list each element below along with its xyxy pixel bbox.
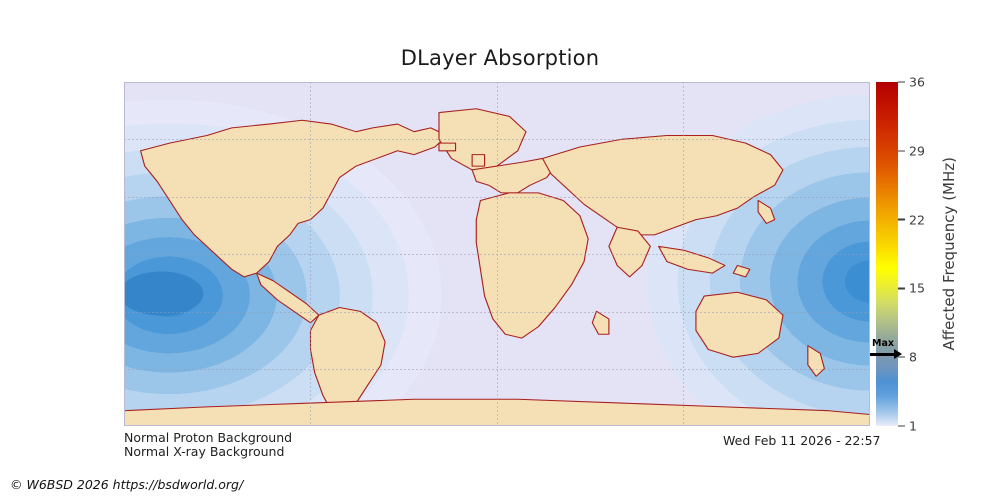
colorbar-tick-mark (898, 425, 905, 426)
colorbar-tick-mark (898, 150, 905, 151)
colorbar-tick-mark (898, 81, 905, 82)
map-plot[interactable] (124, 82, 870, 426)
colorbar-tick-15: 15 (898, 281, 925, 296)
colorbar-tick-29: 29 (898, 143, 925, 158)
gridline-lat-0 (124, 254, 870, 255)
colorbar-gradient (876, 82, 898, 426)
max-arrow-head (894, 349, 902, 359)
proton-background-status: Normal Proton Background (124, 430, 292, 445)
colorbar-tick-36: 36 (898, 75, 925, 90)
colorbar-tick-label: 1 (909, 419, 917, 434)
xray-background-status: Normal X-ray Background (124, 444, 284, 459)
page-title: DLayer Absorption (0, 46, 1000, 70)
gridline-lat--30 (124, 312, 870, 313)
colorbar-tick-label: 29 (909, 143, 925, 158)
colorbar-tick-label: 22 (909, 212, 925, 227)
colorbar-tick-22: 22 (898, 212, 925, 227)
copyright-notice: © W6BSD 2026 https://bsdworld.org/ (10, 477, 243, 492)
colorbar-tick-label: 36 (909, 75, 925, 90)
max-arrow-shaft (870, 353, 896, 356)
colorbar-tick-mark (898, 288, 905, 289)
max-marker-label: Max (872, 339, 894, 349)
colorbar-tick-label: 8 (909, 350, 917, 365)
gridline-lat-30 (124, 197, 870, 198)
colorbar-axis-label: Affected Frequency (MHz) (938, 82, 960, 426)
colorbar-tick-mark (898, 219, 905, 220)
colorbar[interactable] (876, 82, 898, 426)
colorbar-tick-1: 1 (898, 419, 917, 434)
gridline-lat-60 (124, 139, 870, 140)
timestamp: Wed Feb 11 2026 - 22:57 (723, 433, 881, 448)
colorbar-tick-label: 15 (909, 281, 925, 296)
gridline-lat--60 (124, 369, 870, 370)
max-marker: Max (866, 339, 906, 365)
colorbar-axis-label-text: Affected Frequency (MHz) (940, 157, 958, 351)
